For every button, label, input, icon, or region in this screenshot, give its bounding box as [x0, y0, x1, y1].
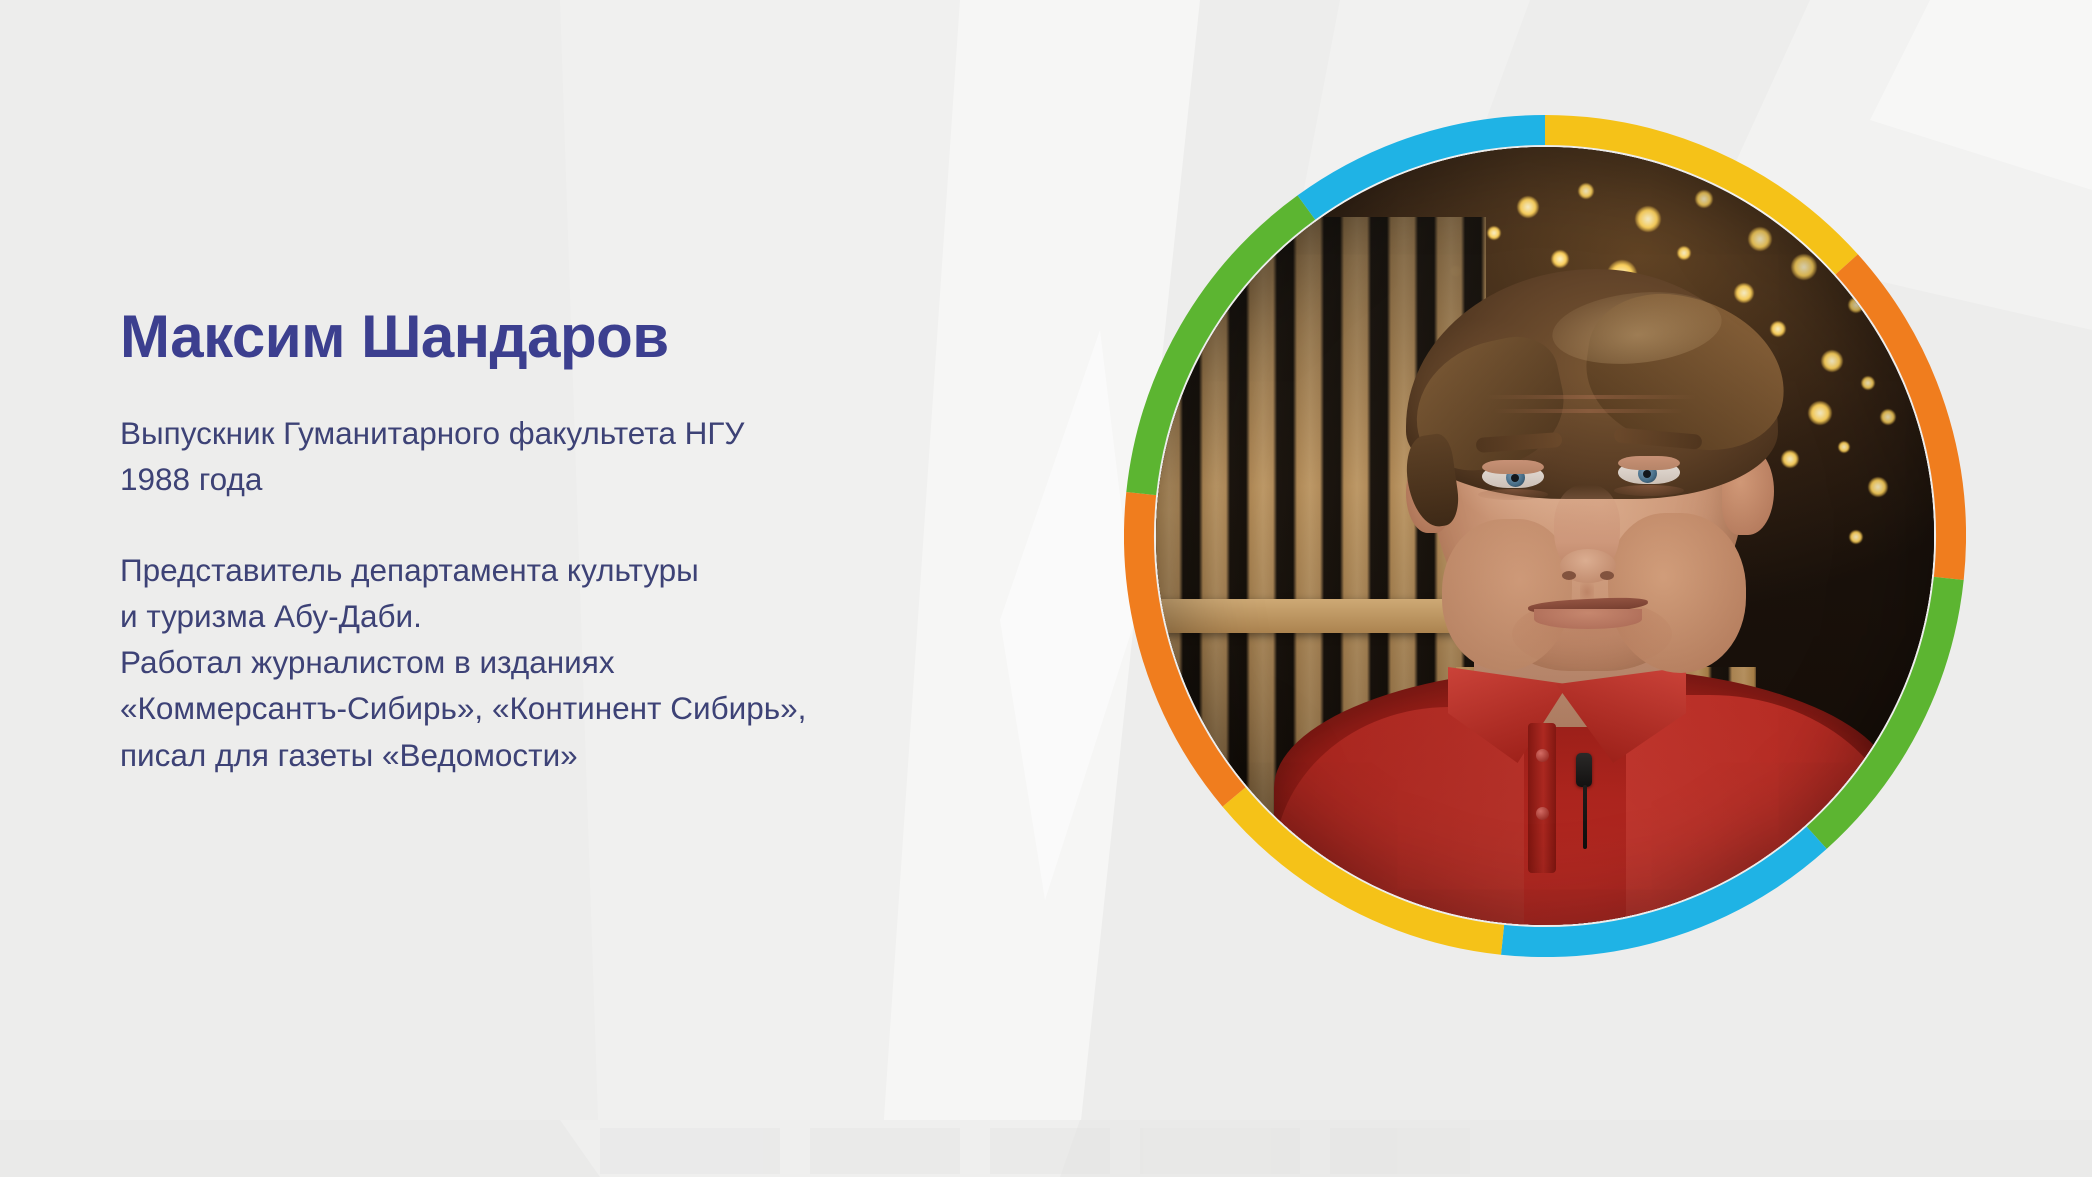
ring-segment-yellow-bottom: [1234, 797, 1503, 940]
ring-segment-orange-bottom-left: [1139, 494, 1234, 797]
bio-paragraph-education: Выпускник Гуманитарного факультета НГУ 1…: [120, 410, 1050, 503]
ring-segment-orange-top-right: [1847, 264, 1951, 578]
bio-paragraph-career: Представитель департамента культуры и ту…: [120, 547, 1050, 778]
ring-segment-yellow-top-left: [1545, 130, 1847, 264]
page-title: Максим Шандаров: [120, 305, 1050, 368]
bio-line: Представитель департамента культуры: [120, 547, 1050, 593]
ring-segment-cyan-lower-right: [1503, 838, 1817, 942]
bio-line: Работал журналистом в изданиях: [120, 639, 1050, 685]
bio-line: Выпускник Гуманитарного факультета НГУ: [120, 410, 1050, 456]
bio-line: писал для газеты «Ведомости»: [120, 732, 1050, 778]
ring-segment-cyan-left: [1306, 130, 1545, 208]
bio-text-column: Максим Шандаров Выпускник Гуманитарного …: [120, 305, 1050, 778]
ring-segment-green-right: [1817, 578, 1949, 837]
color-ring: [1124, 115, 1966, 957]
bio-line: 1988 года: [120, 456, 1050, 502]
portrait-with-color-ring: [1124, 115, 1966, 957]
bio-line: и туризма Абу-Даби.: [120, 593, 1050, 639]
bio-line: «Коммерсантъ-Сибирь», «Континент Сибирь»…: [120, 685, 1050, 731]
ring-segment-green-bottom-left: [1141, 208, 1306, 494]
